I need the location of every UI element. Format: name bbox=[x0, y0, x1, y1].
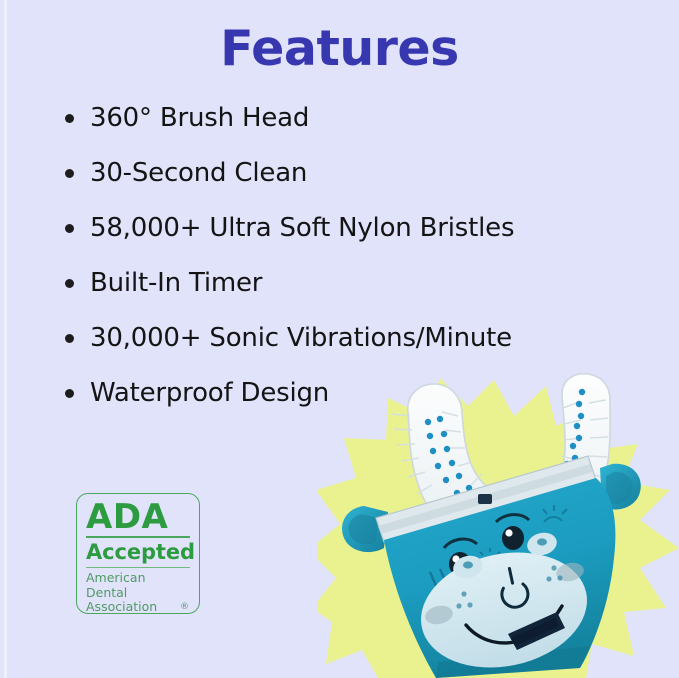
page-title: Features bbox=[0, 19, 679, 79]
ada-divider-bottom bbox=[86, 567, 190, 568]
feature-label: 30,000+ Sonic Vibrations/Minute bbox=[90, 323, 512, 353]
ada-org-line-2: Dental bbox=[86, 586, 190, 601]
ada-org-line-3: Association bbox=[86, 600, 190, 615]
feature-label: Built-In Timer bbox=[90, 268, 262, 298]
bullet-icon bbox=[65, 279, 74, 288]
band-connector bbox=[478, 494, 492, 504]
product-image bbox=[318, 372, 679, 678]
list-item: Built-In Timer bbox=[58, 255, 618, 310]
list-item: 58,000+ Ultra Soft Nylon Bristles bbox=[58, 200, 618, 255]
image-seam bbox=[4, 0, 7, 678]
bullet-icon bbox=[65, 224, 74, 233]
list-item: 360° Brush Head bbox=[58, 90, 618, 145]
ada-organization: American Dental Association ® bbox=[86, 571, 190, 615]
ada-accepted-badge: ADA Accepted American Dental Association… bbox=[76, 493, 200, 614]
bullet-icon bbox=[65, 389, 74, 398]
feature-label: 360° Brush Head bbox=[90, 103, 309, 133]
features-infographic: Features 360° Brush Head 30-Second Clean… bbox=[0, 0, 679, 678]
feature-label: 30-Second Clean bbox=[90, 158, 307, 188]
ada-accepted-label: Accepted bbox=[86, 540, 190, 564]
feature-label: Waterproof Design bbox=[90, 378, 329, 408]
feature-label: 58,000+ Ultra Soft Nylon Bristles bbox=[90, 213, 514, 243]
bullet-icon bbox=[65, 169, 74, 178]
bullet-icon bbox=[65, 334, 74, 343]
list-item: 30-Second Clean bbox=[58, 145, 618, 200]
feature-list: 360° Brush Head 30-Second Clean 58,000+ … bbox=[58, 90, 618, 420]
list-item: 30,000+ Sonic Vibrations/Minute bbox=[58, 310, 618, 365]
ada-org-line-1: American bbox=[86, 571, 190, 586]
ada-acronym: ADA bbox=[86, 499, 190, 535]
registered-trademark-icon: ® bbox=[180, 600, 189, 615]
bullet-icon bbox=[65, 114, 74, 123]
